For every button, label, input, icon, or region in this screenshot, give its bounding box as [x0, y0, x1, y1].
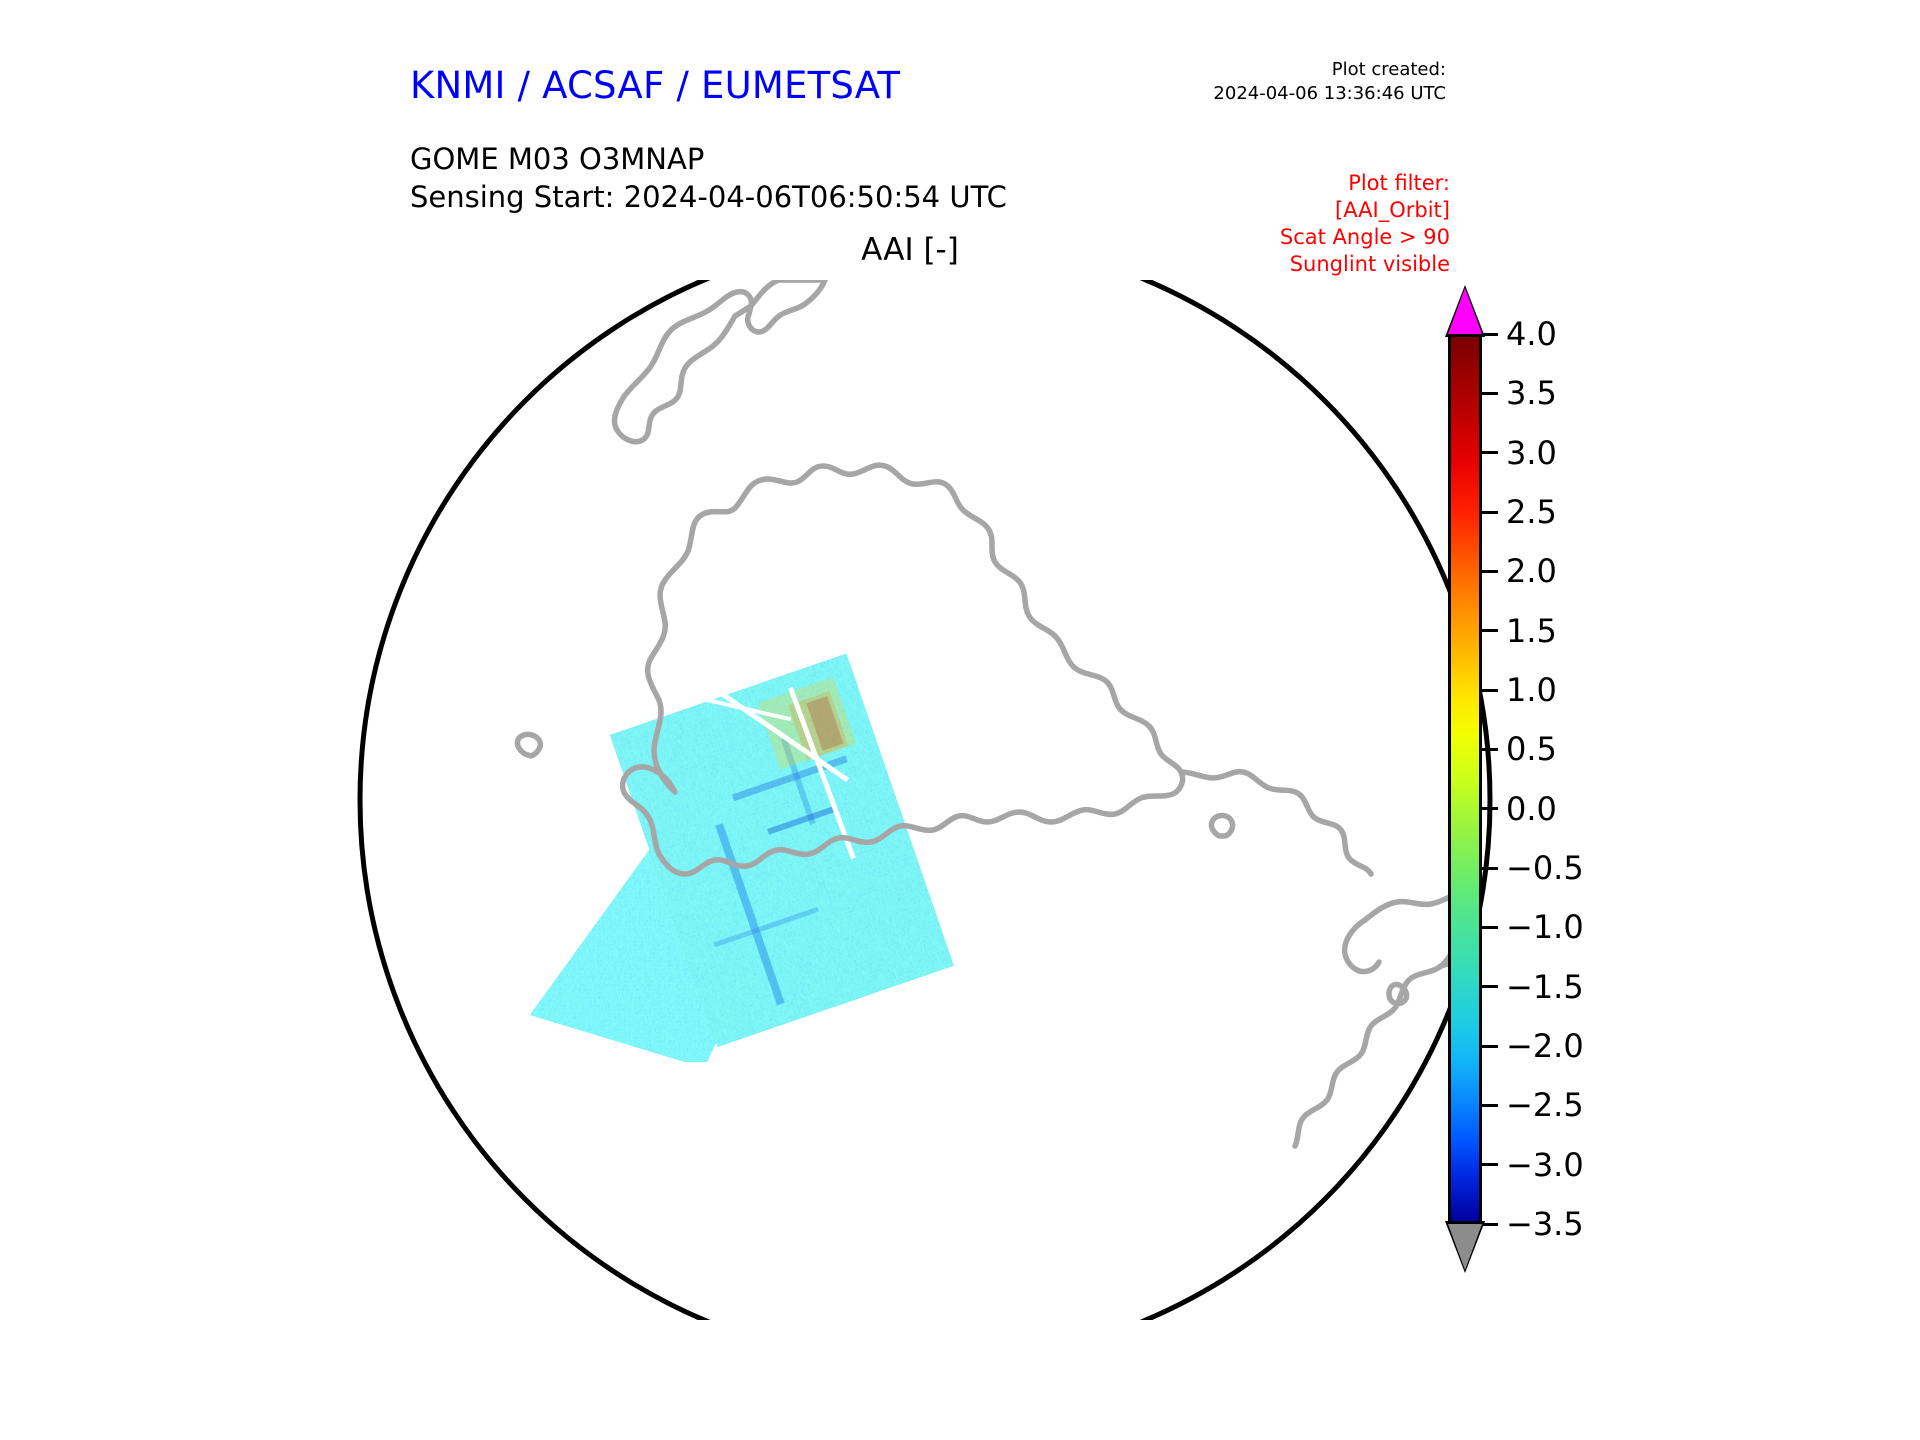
plot-filter-condition: Scat Angle > 90 — [1120, 224, 1450, 251]
instrument-name: GOME M03 O3MNAP — [410, 140, 1007, 178]
colorbar-tick-label: −1.0 — [1506, 908, 1584, 946]
colorbar-over-arrow — [1448, 288, 1482, 334]
colorbar-tick — [1482, 629, 1498, 632]
colorbar-tick-label: 1.0 — [1506, 671, 1557, 709]
plot-filter-block: Plot filter: [AAI_Orbit] Scat Angle > 90… — [1120, 170, 1450, 278]
colorbar-tick-label: 2.0 — [1506, 552, 1557, 590]
colorbar-tick — [1482, 511, 1498, 514]
plot-created-time: 2024-04-06 13:36:46 UTC — [1100, 82, 1446, 106]
colorbar-tick-label: 4.0 — [1506, 315, 1557, 353]
colorbar-tick — [1482, 1223, 1498, 1226]
plot-filter-note: Sunglint visible — [1120, 251, 1450, 278]
colorbar-tick-label: 2.5 — [1506, 493, 1557, 531]
colorbar-tick — [1482, 333, 1498, 336]
coastline-island-small — [1211, 816, 1232, 837]
coastlines — [355, 280, 1495, 1146]
colorbar-tick — [1482, 451, 1498, 454]
coastline-island-nz-left — [428, 378, 465, 408]
colorbar-tick — [1482, 392, 1498, 395]
map-svg — [355, 280, 1495, 1320]
colorbar-tick-label: 3.0 — [1506, 434, 1557, 472]
colorbar-tick-label: −1.5 — [1506, 968, 1584, 1006]
colorbar-tick — [1482, 1045, 1498, 1048]
colorbar-tick — [1482, 1104, 1498, 1107]
colorbar-tick — [1482, 1163, 1498, 1166]
colorbar-tick-label: −0.5 — [1506, 849, 1584, 887]
plot-created-block: Plot created: 2024-04-06 13:36:46 UTC — [1100, 58, 1446, 107]
dataset-meta-block: GOME M03 O3MNAP Sensing Start: 2024-04-0… — [410, 140, 1007, 217]
colorbar-gradient — [1448, 334, 1482, 1224]
colorbar-tick — [1482, 570, 1498, 573]
colorbar-tick-label: −2.5 — [1506, 1086, 1584, 1124]
coastline-island-left — [517, 734, 540, 756]
colorbar-tick-label: −3.5 — [1506, 1205, 1584, 1243]
colorbar-tick-label: −3.0 — [1506, 1146, 1584, 1184]
plot-filter-name: [AAI_Orbit] — [1120, 197, 1450, 224]
colorbar-under-arrow — [1448, 1224, 1482, 1270]
sensing-start: Sensing Start: 2024-04-06T06:50:54 UTC — [410, 178, 1007, 216]
coastline-fragment-upper-left — [355, 326, 413, 358]
plot-canvas: KNMI / ACSAF / EUMETSAT Plot created: 20… — [0, 0, 1920, 1440]
colorbar-tick — [1482, 689, 1498, 692]
colorbar-tick-label: −2.0 — [1506, 1027, 1584, 1065]
globe-outline — [360, 280, 1490, 1320]
colorbar-tick — [1482, 985, 1498, 988]
colorbar-tick — [1482, 807, 1498, 810]
colorbar-tick — [1482, 867, 1498, 870]
colorbar-tick-label: 1.5 — [1506, 612, 1557, 650]
colorbar-tick-label: 0.0 — [1506, 790, 1557, 828]
coastline-nz-north — [748, 280, 825, 332]
coastline-south-america-west — [1345, 920, 1379, 972]
colorbar-tick — [1482, 926, 1498, 929]
colorbar-tick-label: 0.5 — [1506, 730, 1557, 768]
colorbar-tick — [1482, 748, 1498, 751]
colorbar-tick-label: 3.5 — [1506, 374, 1557, 412]
plot-created-label: Plot created: — [1100, 58, 1446, 82]
organization-title: KNMI / ACSAF / EUMETSAT — [410, 64, 900, 107]
polar-map — [355, 280, 1495, 1320]
map-content — [355, 280, 1495, 1146]
plot-filter-label: Plot filter: — [1120, 170, 1450, 197]
colorbar[interactable]: 4.03.53.02.52.01.51.00.50.0−0.5−1.0−1.5−… — [1448, 288, 1482, 1270]
